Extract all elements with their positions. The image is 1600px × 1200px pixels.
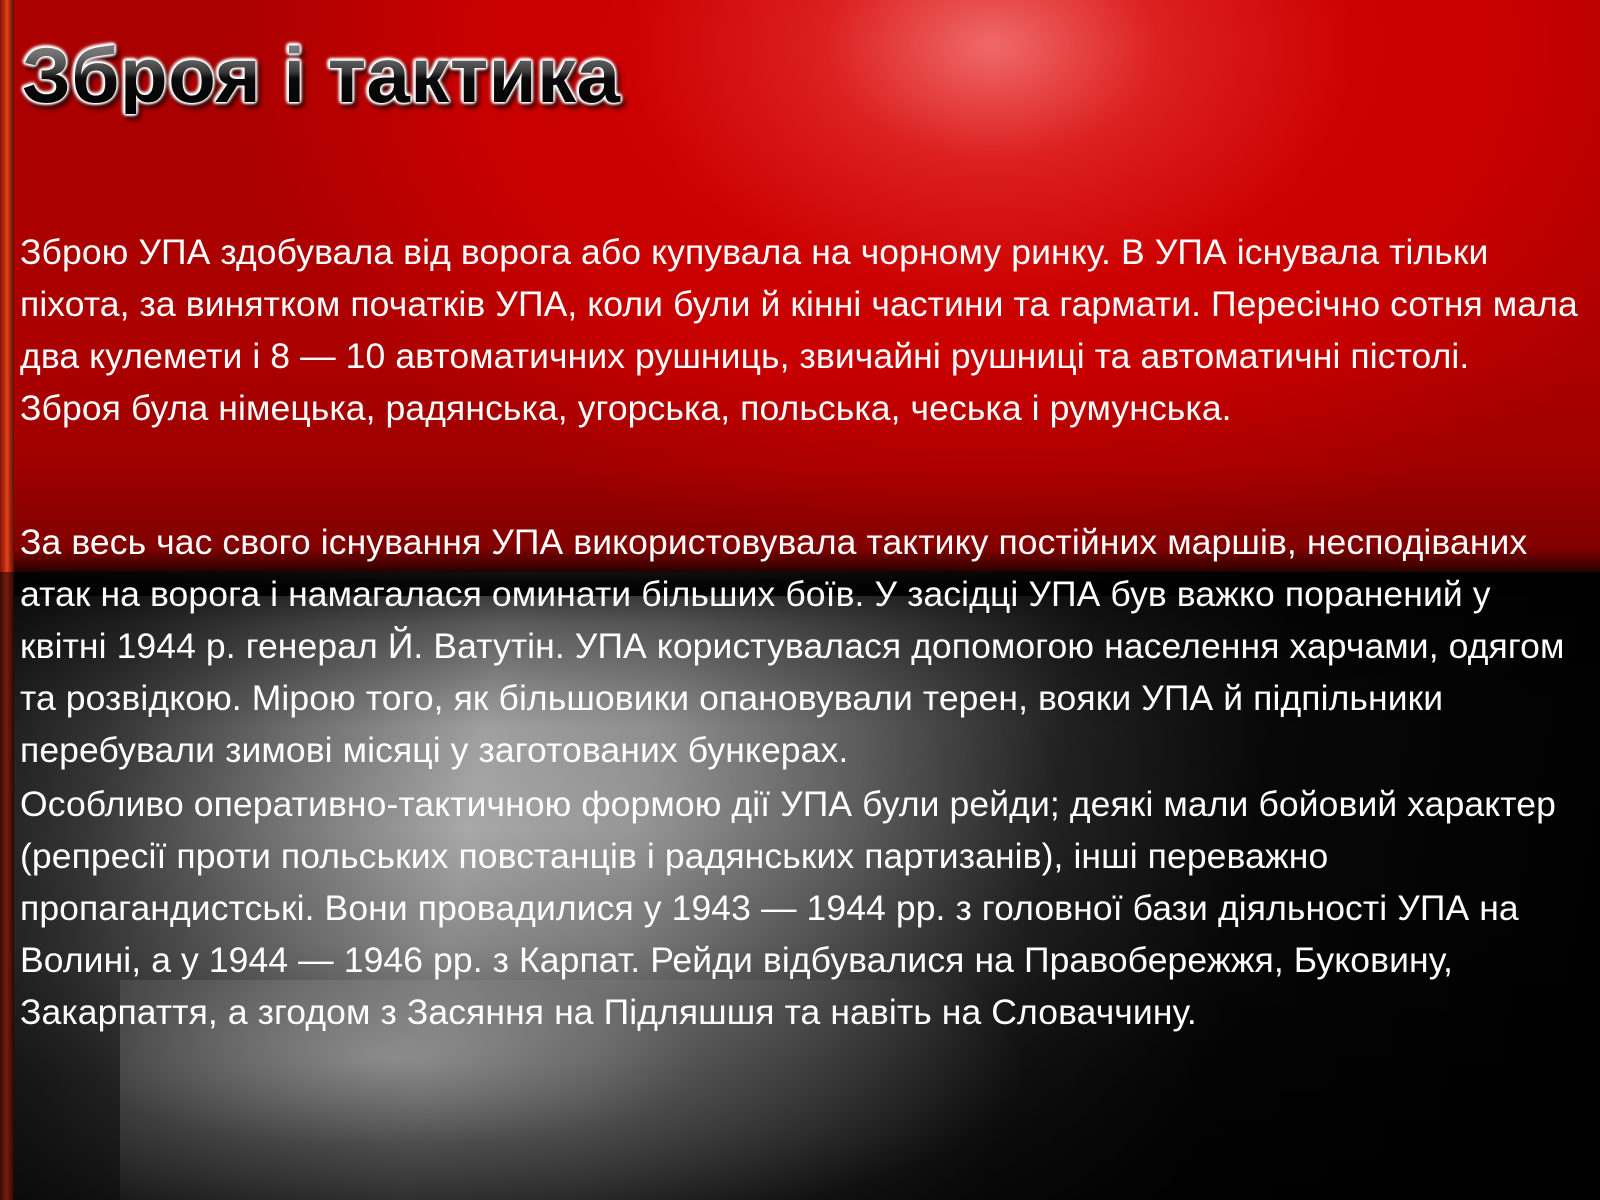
paragraph-tactics: За весь час свого існування УПА використ… <box>20 516 1580 776</box>
slide-content: Зброя і тактика Зброю УПА здобувала від … <box>0 0 1600 1200</box>
paragraph-raids-block: Особливо оперативно-тактичною формою дії… <box>20 778 1580 1038</box>
paragraph-weapons: Зброю УПА здобувала від ворога або купув… <box>20 226 1580 434</box>
paragraph-tactics-block: За весь час свого існування УПА використ… <box>20 516 1580 776</box>
paragraph-weapons-block: Зброю УПА здобувала від ворога або купув… <box>20 226 1580 434</box>
presentation-slide: Зброя і тактика Зброю УПА здобувала від … <box>0 0 1600 1200</box>
page-title: Зброя і тактика <box>22 36 621 114</box>
paragraph-raids: Особливо оперативно-тактичною формою дії… <box>20 778 1580 1038</box>
